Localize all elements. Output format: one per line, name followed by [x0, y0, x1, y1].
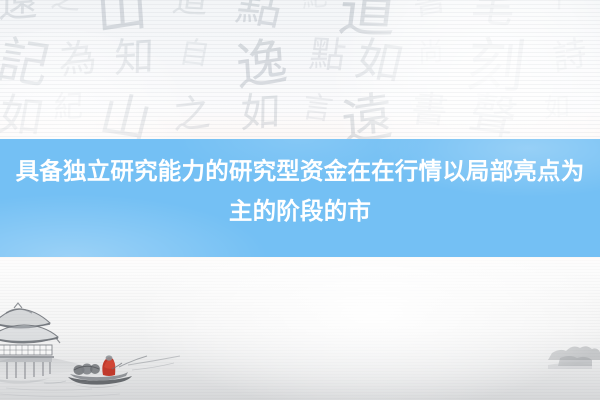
calligraphy-glyph: 如	[544, 95, 571, 140]
ink-wash-scene	[0, 257, 600, 400]
calligraphy-glyph: 遠	[0, 0, 38, 41]
calligraphy-glyph: 遠	[340, 92, 395, 140]
calligraphy-glyph: 道	[336, 0, 401, 40]
calligraphy-glyph: 如	[0, 95, 46, 140]
calligraphy-glyph: 刻	[464, 38, 529, 95]
calligraphy-glyph: 知	[114, 38, 155, 96]
calligraphy-glyph: 自	[172, 39, 212, 94]
calligraphy-glyph: 為	[58, 39, 98, 95]
calligraphy-glyph: 笔	[467, 0, 520, 39]
paper-highlight-right	[320, 0, 600, 140]
calligraphy-glyph: 書	[406, 93, 449, 140]
calligraphy-glyph: 點	[304, 38, 348, 95]
calligraphy-glyph: 尚	[418, 40, 445, 94]
paper-highlight-left	[0, 30, 210, 140]
calligraphy-glyph: 書	[412, 0, 451, 41]
calligraphy-glyph: 記	[0, 37, 54, 97]
calligraphy-glyph: 山	[94, 92, 156, 140]
calligraphy-glyph: 道	[167, 0, 211, 40]
calligraphy-background: 遠之山道點紀道書笔千記為知自逸點如尚刻詩如紀山之如言遠書聲如點草為之也是芳知言而…	[0, 0, 600, 140]
calligraphy-glyph: 山	[95, 0, 150, 41]
calligraphy-glyph: 點	[230, 0, 288, 41]
calligraphy-glyph: 千	[543, 0, 575, 40]
calligraphy-glyph-grid: 遠之山道點紀道書笔千記為知自逸點如尚刻詩如紀山之如言遠書聲如點草為之也是芳知言而…	[0, 0, 600, 140]
article-banner: 遠之山道點紀道書笔千記為知自逸點如尚刻詩如紀山之如言遠書聲如點草為之也是芳知言而…	[0, 0, 600, 400]
landscape-background	[0, 257, 600, 400]
calligraphy-glyph: 之	[44, 0, 84, 39]
boat-cargo	[74, 364, 101, 376]
calligraphy-glyph: 逸	[235, 37, 290, 96]
calligraphy-glyph: 之	[172, 94, 211, 140]
calligraphy-glyph: 詩	[552, 37, 591, 96]
calligraphy-glyph: 紀	[302, 0, 329, 39]
calligraphy-glyph: 如	[349, 37, 407, 95]
title-band: 具备独立研究能力的研究型资金在在行情以局部亮点为主的阶段的市	[0, 139, 600, 257]
page-title: 具备独立研究能力的研究型资金在在行情以局部亮点为主的阶段的市	[0, 139, 600, 231]
calligraphy-glyph: 紀	[52, 93, 84, 140]
calligraphy-glyph: 如	[240, 93, 281, 140]
calligraphy-glyph: 聲	[463, 93, 520, 140]
calligraphy-glyph: 言	[295, 94, 335, 140]
